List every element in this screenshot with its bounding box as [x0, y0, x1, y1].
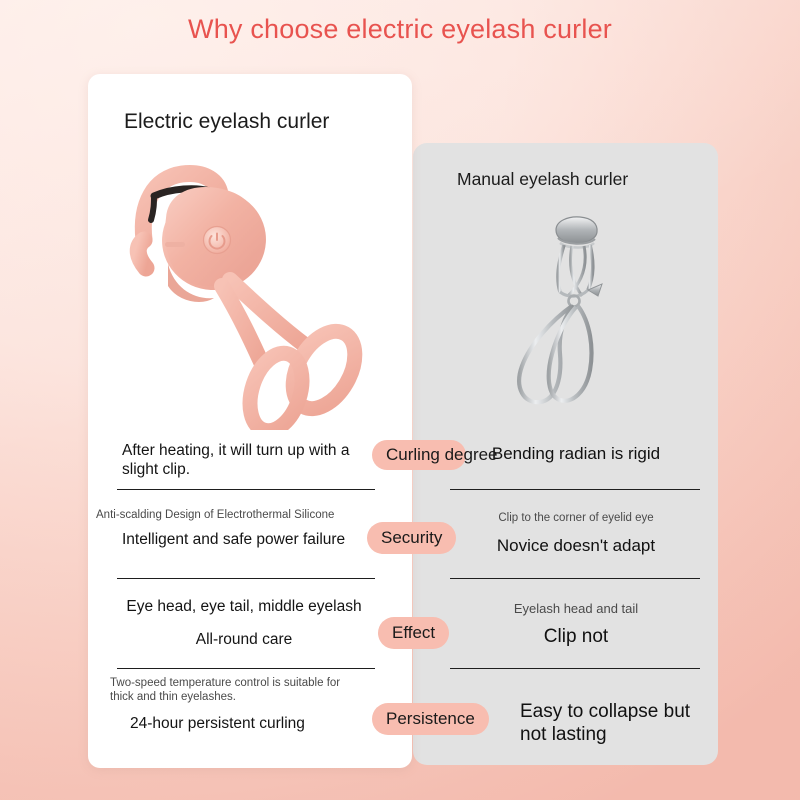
row-4-right-main: Easy to collapse but not lasting — [520, 700, 720, 746]
row-2-right-sub: Clip to the corner of eyelid eye — [440, 512, 712, 526]
manual-card-title: Manual eyelash curler — [457, 169, 628, 190]
row-1-left-main: After heating, it will turn up with a sl… — [96, 442, 386, 479]
row-3-right-divider — [450, 668, 700, 669]
row-1-left-divider — [117, 489, 375, 490]
row-3-left-divider — [117, 668, 375, 669]
row-3-left-cell: Eye head, eye tail, middle eyelash All-r… — [94, 598, 394, 649]
row-3-left-main: All-round care — [94, 631, 394, 650]
row-4-left-sub: Two-speed temperature control is suitabl… — [110, 677, 360, 704]
row-2-right-divider — [450, 578, 700, 579]
badge-security: Security — [367, 522, 456, 554]
electric-card-title: Electric eyelash curler — [124, 110, 329, 134]
row-4-left-main: 24-hour persistent curling — [110, 715, 360, 734]
row-3-right-cell: Eyelash head and tail Clip not — [440, 601, 712, 649]
row-4-right-cell: Easy to collapse but not lasting — [520, 700, 720, 746]
row-4-left-cell: Two-speed temperature control is suitabl… — [110, 677, 360, 734]
badge-curling-degree: Curling degree — [372, 440, 466, 470]
row-3-left-sub: Eye head, eye tail, middle eyelash — [94, 598, 394, 617]
badge-persistence: Persistence — [372, 703, 489, 735]
row-1-right-divider — [450, 489, 700, 490]
badge-effect: Effect — [378, 617, 449, 649]
row-3-right-main: Clip not — [440, 625, 712, 648]
electric-eyelash-curler-image — [110, 160, 380, 430]
page-title: Why choose electric eyelash curler — [0, 14, 800, 45]
manual-eyelash-curler-image — [494, 212, 644, 417]
row-2-left-cell: Anti-scalding Design of Electrothermal S… — [96, 509, 386, 549]
row-2-left-sub: Anti-scalding Design of Electrothermal S… — [96, 509, 386, 523]
row-2-right-main: Novice doesn't adapt — [440, 536, 712, 557]
row-2-left-main: Intelligent and safe power failure — [96, 531, 386, 550]
row-2-right-cell: Clip to the corner of eyelid eye Novice … — [440, 512, 712, 556]
row-1-left-cell: After heating, it will turn up with a sl… — [96, 442, 386, 479]
infographic-canvas: Why choose electric eyelash curler Manua… — [0, 0, 800, 800]
row-3-right-sub: Eyelash head and tail — [440, 601, 712, 616]
row-2-left-divider — [117, 578, 375, 579]
